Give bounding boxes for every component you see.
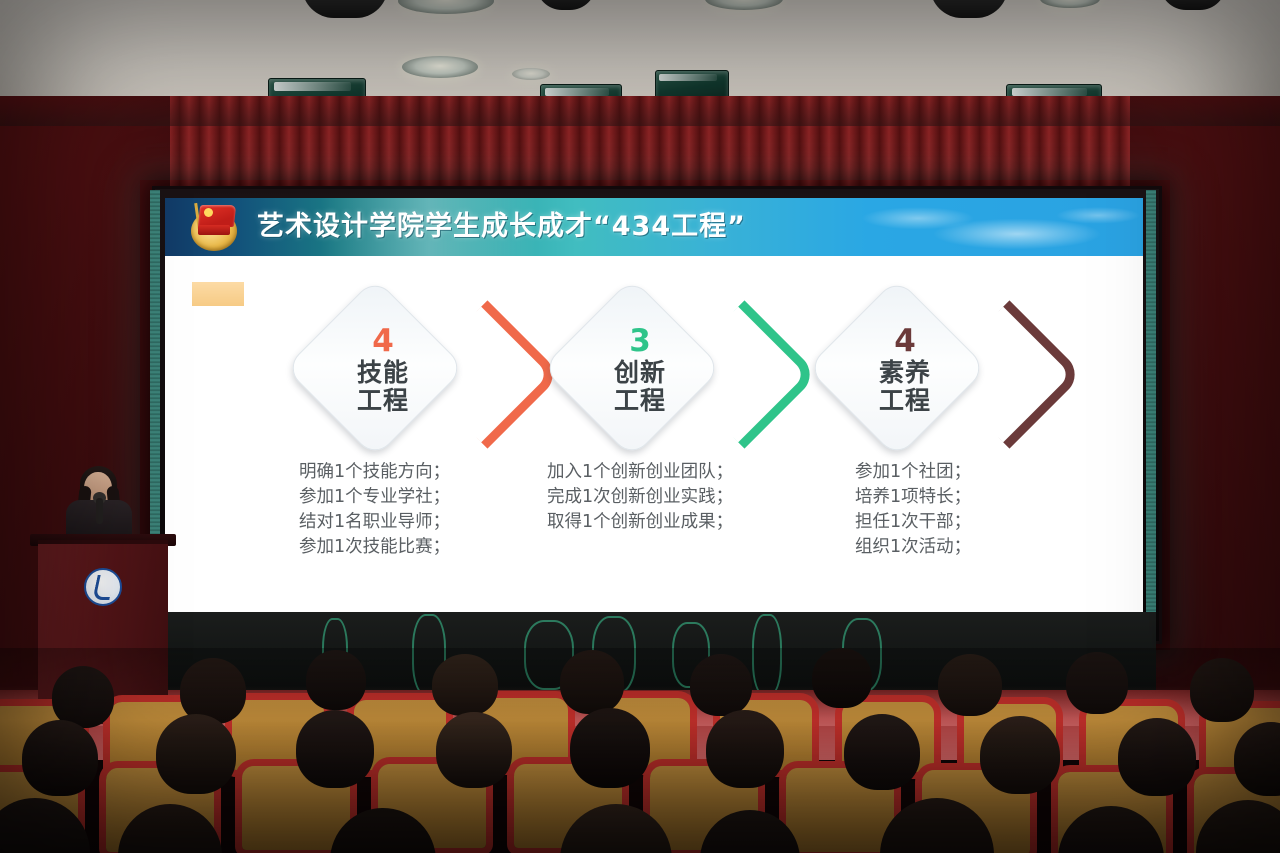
communist-youth-league-emblem-icon [187,201,241,253]
bullet-column-quality: 参加1个社团； 培养1项特长； 担任1次干部； 组织1次活动； [855,460,971,559]
audience-head [1066,652,1128,714]
card-label-line1: 技能 [357,358,409,387]
audience-head [306,650,366,710]
audience-head [938,654,1002,716]
audience-head [156,714,236,794]
bullet-column-innovation: 加入1个创新创业团队； 完成1次创新创业实践； 取得1个创新创业成果； [547,460,733,535]
card-label-line2: 工程 [614,386,666,415]
slide-bullet-columns: 明确1个技能方向； 参加1个专业学社； 结对1名职业导师； 参加1次技能比赛； … [165,460,1143,580]
audience-head [690,654,752,716]
card-skill-engineering[interactable]: 4 技能 工程 [293,290,543,450]
audience-head [706,710,784,788]
audience-head [52,666,114,728]
university-seal-icon [84,568,122,606]
audience-head [980,716,1060,794]
audience [0,648,1280,853]
header-clouds [693,198,1143,256]
presentation-slide: 艺术设计学院学生成长成才“434工程” 4 技能 工程 [165,198,1143,618]
bullet-column-skill: 明确1个技能方向； 参加1个专业学社； 结对1名职业导师； 参加1次技能比赛； [299,460,450,559]
card-label-line2: 工程 [357,386,409,415]
audience-head [432,654,498,716]
led-edge-right [1146,190,1156,634]
microphone [96,498,103,524]
slide-header-band: 艺术设计学院学生成长成才“434工程” [165,198,1143,256]
card-label-line1: 创新 [614,358,666,387]
card-number: 3 [629,326,651,357]
recessed-downlight-4 [512,68,550,80]
card-label-line2: 工程 [879,386,931,415]
audience-head [296,710,374,788]
card-label-line1: 素养 [879,358,931,387]
ceiling-shadow [0,96,1280,126]
card-number: 4 [894,326,916,357]
audience-head [812,648,872,708]
engineering-cards: 4 技能 工程 3 创新 工程 [165,290,1143,450]
audience-head [560,650,624,714]
audience-head [844,714,920,790]
auditorium-scene: 艺术设计学院学生成长成才“434工程” 4 技能 工程 [0,0,1280,853]
recessed-downlight-2 [402,56,478,78]
audience-head [1118,718,1196,796]
card-innovation-engineering[interactable]: 3 创新 工程 [550,290,800,450]
card-number: 4 [372,326,394,357]
audience-head [22,720,98,796]
audience-head [436,712,512,788]
audience-head [570,708,650,788]
slide-title: 艺术设计学院学生成长成才“434工程” [257,206,746,248]
audience-head [1190,658,1254,722]
card-quality-engineering[interactable]: 4 素养 工程 [815,290,1065,450]
